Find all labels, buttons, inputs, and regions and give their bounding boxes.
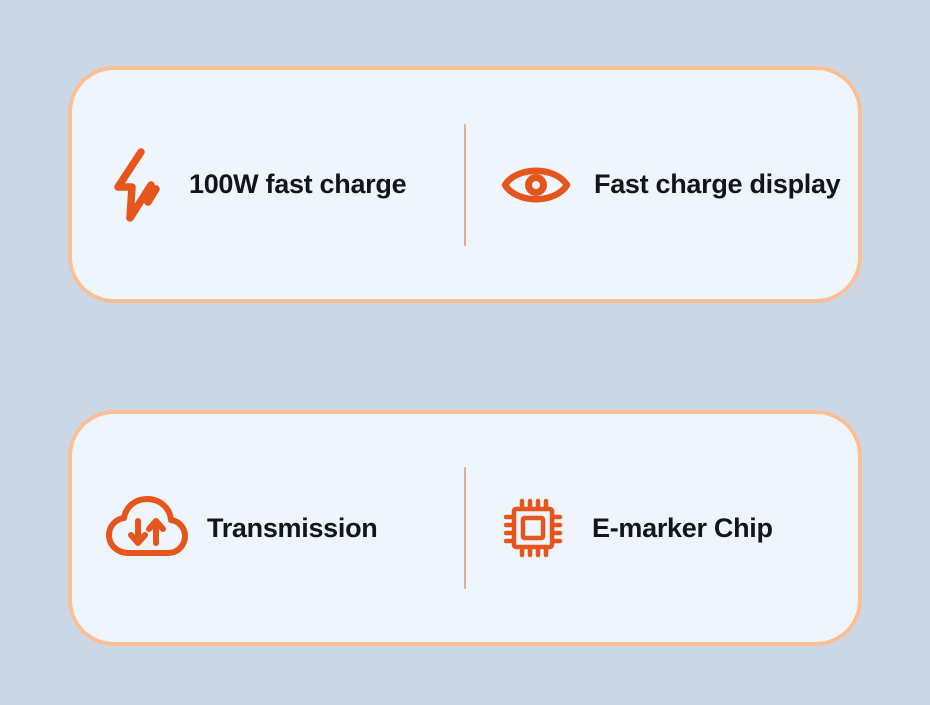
feature-card: 100W fast charge Fast charge display [68, 66, 862, 303]
feature-card: Transmission [68, 410, 862, 646]
feature-label: E-marker Chip [592, 513, 773, 544]
feature-label: Fast charge display [594, 169, 840, 200]
feature-label: Transmission [207, 513, 377, 544]
chip-icon [500, 495, 566, 561]
cloud-transfer-icon [105, 496, 189, 560]
feature-cell-emarker-chip[interactable]: E-marker Chip [465, 414, 858, 642]
feature-cell-transmission[interactable]: Transmission [72, 414, 465, 642]
feature-highlights-panel: 100W fast charge Fast charge display [0, 0, 930, 705]
eye-icon [500, 160, 572, 210]
feature-label: 100W fast charge [189, 169, 406, 200]
lightning-bolt-icon [105, 148, 165, 222]
feature-cell-fast-charge[interactable]: 100W fast charge [72, 70, 465, 299]
feature-cell-fast-charge-display[interactable]: Fast charge display [465, 70, 858, 299]
